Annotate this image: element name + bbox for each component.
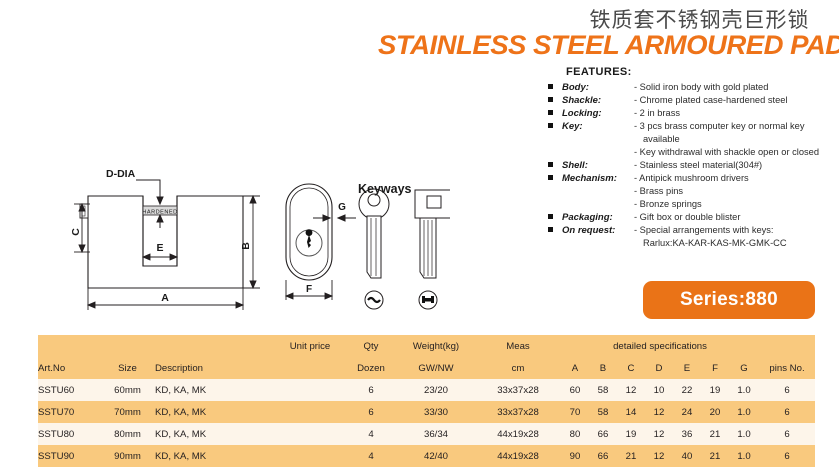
cell-description: KD, KA, MK: [155, 445, 275, 467]
header-gw-nw: GW/NW: [397, 357, 475, 379]
feature-value: - Special arrangements with keys:: [634, 224, 774, 237]
cell-pins: 6: [759, 401, 815, 423]
feature-row: Key:- 3 pcs brass computer key or normal…: [548, 120, 839, 133]
feature-label: Body:: [562, 81, 634, 94]
feature-value: - Chrome plated case-hardened steel: [634, 94, 788, 107]
label-e: E: [156, 242, 163, 254]
feature-value: - Antipick mushroom drivers: [634, 172, 749, 185]
feature-row: On request:- Special arrangements with k…: [548, 224, 839, 237]
feature-label: Mechanism:: [562, 172, 634, 185]
table-header-row-top: Unit price Qty Weight(kg) Meas detailed …: [38, 335, 815, 357]
cell-unit-price: [275, 423, 345, 445]
table-row: SSTU8080mmKD, KA, MK436/3444x19x28806619…: [38, 423, 815, 445]
header-unit-price-blank: [275, 357, 345, 379]
bullet-square-icon: [548, 211, 562, 219]
feature-value: - Stainless steel material(304#): [634, 159, 762, 172]
cell-art-no: SSTU80: [38, 423, 100, 445]
cell-d: 12: [645, 401, 673, 423]
cell-g: 1.0: [729, 423, 759, 445]
keyways-title: Keyways: [358, 182, 412, 196]
cell-dozen: 4: [345, 445, 397, 467]
feature-label: Shackle:: [562, 94, 634, 107]
feature-value: - Solid iron body with gold plated: [634, 81, 768, 94]
cell-unit-price: [275, 445, 345, 467]
feature-label: Packaging:: [562, 211, 634, 224]
cell-f: 20: [701, 401, 729, 423]
feature-label: Key:: [562, 120, 634, 133]
cell-a: 90: [561, 445, 589, 467]
feature-row: - Key withdrawal with shackle open or cl…: [548, 146, 839, 159]
header-dim-f: F: [701, 357, 729, 379]
cell-dozen: 6: [345, 401, 397, 423]
cell-size: 70mm: [100, 401, 155, 423]
cell-f: 19: [701, 379, 729, 401]
cell-pins: 6: [759, 379, 815, 401]
cell-b: 58: [589, 401, 617, 423]
feature-row: - Brass pins: [548, 185, 839, 198]
cell-description: KD, KA, MK: [155, 379, 275, 401]
bullet-square-icon: [548, 81, 562, 89]
cell-c: 14: [617, 401, 645, 423]
product-spec-sheet: 铁质套不锈钢壳巨形锁 STAINLESS STEEL ARMOURED PADL…: [0, 0, 839, 458]
bullet-square-icon: [548, 198, 562, 201]
keyway-profile-icon-square: [419, 291, 437, 309]
header-dim-a: A: [561, 357, 589, 379]
cell-g: 1.0: [729, 401, 759, 423]
cell-pins: 6: [759, 423, 815, 445]
specification-table: Unit price Qty Weight(kg) Meas detailed …: [38, 335, 815, 467]
label-a: A: [161, 292, 169, 304]
header-unit-price: Unit price: [275, 335, 345, 357]
cell-e: 24: [673, 401, 701, 423]
bullet-square-icon: [548, 146, 562, 149]
cell-f: 21: [701, 445, 729, 467]
header-detailed-specifications: detailed specifications: [561, 335, 759, 357]
cell-size: 80mm: [100, 423, 155, 445]
feature-value: - Gift box or double blister: [634, 211, 740, 224]
cell-weight: 42/40: [397, 445, 475, 467]
cell-f: 21: [701, 423, 729, 445]
cell-d: 12: [645, 445, 673, 467]
cell-d: 12: [645, 423, 673, 445]
feature-label: On request:: [562, 224, 634, 237]
bullet-square-icon: [548, 133, 562, 136]
cell-c: 19: [617, 423, 645, 445]
cell-weight: 36/34: [397, 423, 475, 445]
bullet-square-icon: [548, 159, 562, 167]
cell-a: 80: [561, 423, 589, 445]
label-b: B: [240, 242, 252, 250]
table-row: SSTU7070mmKD, KA, MK633/3033x37x28705814…: [38, 401, 815, 423]
cell-description: KD, KA, MK: [155, 423, 275, 445]
header-size: Size: [100, 357, 155, 379]
feature-row: - Bronze springs: [548, 198, 839, 211]
cell-size: 60mm: [100, 379, 155, 401]
feature-value: Rarlux:KA-KAR-KAS-MK-GMK-CC: [634, 237, 787, 250]
cell-art-no: SSTU90: [38, 445, 100, 467]
table-header: Unit price Qty Weight(kg) Meas detailed …: [38, 335, 815, 379]
header-cm: cm: [475, 357, 561, 379]
english-title: STAINLESS STEEL ARMOURED PADLOCK: [378, 30, 839, 61]
feature-value: - 3 pcs brass computer key or normal key: [634, 120, 805, 133]
header-art-no: Art.No: [38, 357, 100, 379]
series-label: Series:880: [680, 289, 778, 311]
feature-value: - 2 in brass: [634, 107, 680, 120]
cell-unit-price: [275, 379, 345, 401]
feature-row: Body:- Solid iron body with gold plated: [548, 81, 839, 94]
feature-label: Shell:: [562, 159, 634, 172]
cell-d: 10: [645, 379, 673, 401]
features-block: FEATURES: Body:- Solid iron body with go…: [548, 66, 839, 250]
features-list: Body:- Solid iron body with gold platedS…: [548, 81, 839, 250]
key-square-head: [415, 190, 450, 278]
cell-g: 1.0: [729, 379, 759, 401]
cell-c: 21: [617, 445, 645, 467]
cell-e: 22: [673, 379, 701, 401]
cell-g: 1.0: [729, 445, 759, 467]
header-dim-d: D: [645, 357, 673, 379]
header-dozen: Dozen: [345, 357, 397, 379]
feature-value: - Bronze springs: [634, 198, 702, 211]
cell-description: KD, KA, MK: [155, 401, 275, 423]
series-badge: Series:880: [643, 281, 815, 319]
feature-row: available: [548, 133, 839, 146]
feature-value: available: [634, 133, 680, 146]
label-d-dia: D-DIA: [106, 168, 136, 180]
header-dim-c: C: [617, 357, 645, 379]
table-header-row-bottom: Art.No Size Description Dozen GW/NW cm A…: [38, 357, 815, 379]
cell-meas: 44x19x28: [475, 423, 561, 445]
bullet-square-icon: [548, 237, 562, 240]
label-g: G: [338, 202, 346, 213]
cell-b: 58: [589, 379, 617, 401]
keyway-profile-icon-round: [365, 291, 383, 309]
feature-row: Shell:- Stainless steel material(304#): [548, 159, 839, 172]
cell-unit-price: [275, 401, 345, 423]
cell-meas: 33x37x28: [475, 379, 561, 401]
cell-a: 70: [561, 401, 589, 423]
feature-row: Rarlux:KA-KAR-KAS-MK-GMK-CC: [548, 237, 839, 250]
label-c: C: [70, 228, 82, 236]
header-dim-e: E: [673, 357, 701, 379]
feature-row: Mechanism:- Antipick mushroom drivers: [548, 172, 839, 185]
header-description: Description: [155, 357, 275, 379]
key-round-head: [359, 189, 389, 278]
header-meas: Meas: [475, 335, 561, 357]
cell-size: 90mm: [100, 445, 155, 467]
bullet-square-icon: [548, 185, 562, 188]
cell-c: 12: [617, 379, 645, 401]
bullet-square-icon: [548, 172, 562, 180]
cell-pins: 6: [759, 445, 815, 467]
cell-b: 66: [589, 445, 617, 467]
cell-art-no: SSTU60: [38, 379, 100, 401]
cell-e: 40: [673, 445, 701, 467]
feature-value: - Key withdrawal with shackle open or cl…: [634, 146, 819, 159]
features-heading: FEATURES:: [566, 66, 839, 78]
header-weight: Weight(kg): [397, 335, 475, 357]
cell-meas: 44x19x28: [475, 445, 561, 467]
cell-a: 60: [561, 379, 589, 401]
feature-value: - Brass pins: [634, 185, 683, 198]
cell-meas: 33x37x28: [475, 401, 561, 423]
cell-weight: 23/20: [397, 379, 475, 401]
table-body: SSTU6060mmKD, KA, MK623/2033x37x28605812…: [38, 379, 815, 467]
bullet-square-icon: [548, 107, 562, 115]
cell-dozen: 6: [345, 379, 397, 401]
label-f: F: [306, 284, 312, 295]
bullet-square-icon: [548, 94, 562, 102]
cell-e: 36: [673, 423, 701, 445]
header-qty: Qty: [345, 335, 397, 357]
bullet-square-icon: [548, 224, 562, 232]
table-row: SSTU9090mmKD, KA, MK442/4044x19x28906621…: [38, 445, 815, 467]
header-pins-no: pins No.: [759, 357, 815, 379]
header-dim-b: B: [589, 357, 617, 379]
bullet-square-icon: [548, 120, 562, 128]
cell-art-no: SSTU70: [38, 401, 100, 423]
cell-b: 66: [589, 423, 617, 445]
feature-row: Packaging:- Gift box or double blister: [548, 211, 839, 224]
cell-weight: 33/30: [397, 401, 475, 423]
feature-label: Locking:: [562, 107, 634, 120]
feature-row: Shackle:- Chrome plated case-hardened st…: [548, 94, 839, 107]
header-dim-g: G: [729, 357, 759, 379]
table-row: SSTU6060mmKD, KA, MK623/2033x37x28605812…: [38, 379, 815, 401]
feature-row: Locking:- 2 in brass: [548, 107, 839, 120]
cell-dozen: 4: [345, 423, 397, 445]
